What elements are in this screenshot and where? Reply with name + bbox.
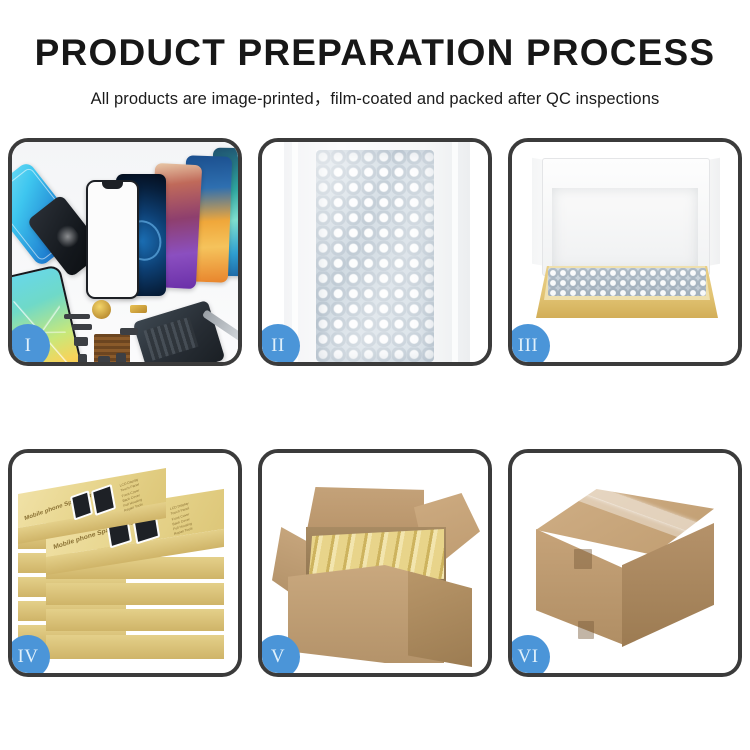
bubble-wrapped-contents (548, 268, 706, 296)
step-numeral-6: VI (517, 646, 538, 668)
bubble-wrap-icon (316, 150, 434, 362)
small-part-c (78, 354, 87, 362)
carton-flap-tab-top (574, 549, 592, 569)
stack-slab (46, 635, 224, 659)
page-title: PRODUCT PREPARATION PROCESS (0, 34, 750, 71)
step-image-2 (262, 142, 488, 362)
foam-sheet (552, 188, 698, 270)
page-subtitle: All products are image-printed，film-coat… (0, 85, 750, 109)
step-badge-3: III (508, 324, 550, 366)
step-numeral-1: I (25, 335, 32, 357)
stack-slab (46, 609, 224, 631)
connector-part (64, 314, 90, 319)
steps-grid: I II (8, 138, 742, 677)
bag-seam-right (452, 142, 458, 362)
step-panel-4: Mobile phone Spare Parts LCD Display Tou… (8, 449, 242, 677)
small-part-a (120, 328, 138, 335)
small-part-d (98, 356, 110, 362)
step-panel-1: I (8, 138, 242, 366)
carton-flap-tab-bottom (578, 621, 594, 639)
step-image-5 (262, 453, 488, 673)
step-badge-5: V (258, 635, 300, 677)
step-panel-6: VI (508, 449, 742, 677)
step-numeral-4: IV (17, 646, 38, 668)
step-panel-5: V (258, 449, 492, 677)
small-part-e (116, 353, 126, 362)
step-panel-2: II (258, 138, 492, 366)
small-part-b (74, 337, 88, 346)
gold-flex-part (130, 305, 147, 313)
stack-slab (46, 583, 224, 605)
small-part-f (72, 324, 92, 330)
step-badge-1: I (8, 324, 50, 366)
step-numeral-5: V (271, 646, 285, 668)
box-stack: Mobile phone Spare Parts LCD Display Tou… (16, 467, 238, 667)
phone-front-glass (86, 180, 139, 299)
step-image-3 (512, 142, 738, 362)
step-badge-6: VI (508, 635, 550, 677)
speaker-coil-icon (92, 300, 111, 319)
step-numeral-3: III (518, 335, 538, 357)
step-panel-3: III (508, 138, 742, 366)
step-image-1 (12, 142, 238, 362)
header: PRODUCT PREPARATION PROCESS All products… (0, 0, 750, 109)
step-image-6 (512, 453, 738, 673)
carton-body-side (408, 571, 472, 667)
product-preparation-infographic: PRODUCT PREPARATION PROCESS All products… (0, 0, 750, 750)
step-badge-4: IV (8, 635, 50, 677)
step-badge-2: II (258, 324, 300, 366)
step-image-4: Mobile phone Spare Parts LCD Display Tou… (12, 453, 238, 673)
step-numeral-2: II (271, 335, 285, 357)
